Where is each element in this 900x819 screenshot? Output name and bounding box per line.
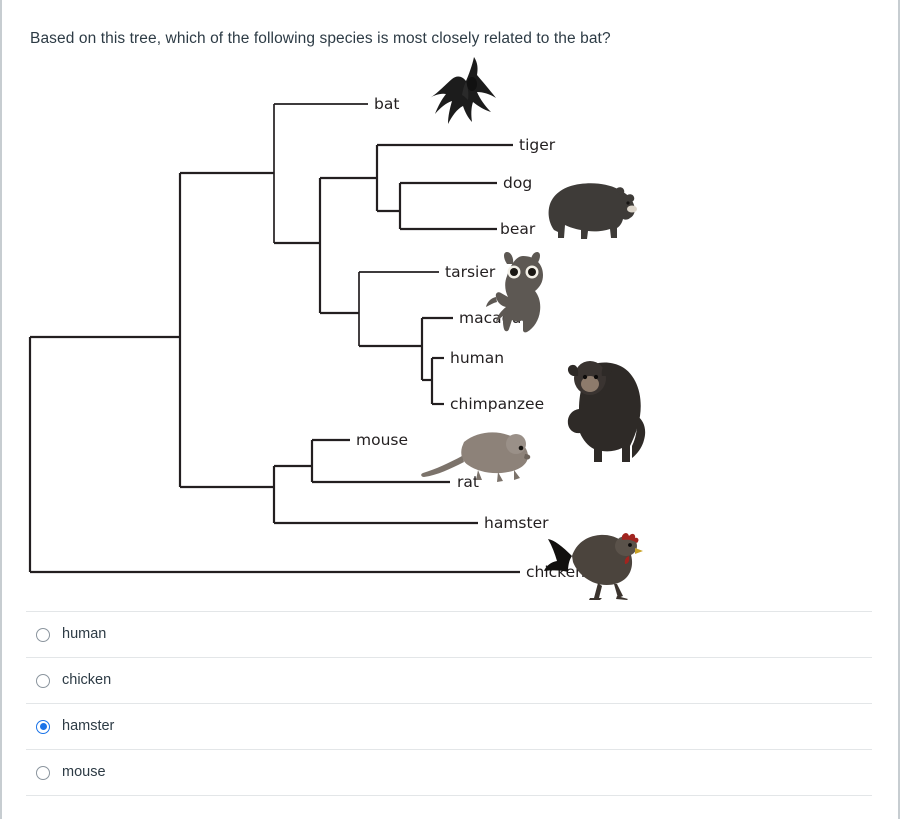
tree-leaf-bat: bat	[374, 97, 399, 113]
answer-label-mouse: mouse	[62, 765, 106, 780]
chicken-image	[542, 530, 650, 600]
tree-leaf-tiger: tiger	[519, 138, 555, 154]
question-page: Based on this tree, which of the followi…	[0, 0, 900, 819]
chimpanzee-image	[552, 354, 650, 472]
answer-label-human: human	[62, 627, 106, 642]
phylogenetic-tree-figure: bat tiger dog bear tarsier macaque human…	[16, 60, 676, 600]
radio-chicken[interactable]	[36, 674, 50, 688]
tree-leaf-dog: dog	[503, 176, 532, 192]
answer-label-hamster: hamster	[62, 719, 114, 734]
tarsier-image	[483, 250, 561, 338]
question-prompt: Based on this tree, which of the followi…	[30, 28, 870, 50]
answer-option-mouse[interactable]: mouse	[26, 749, 872, 796]
bear-image	[540, 168, 640, 248]
radio-human[interactable]	[36, 628, 50, 642]
tree-leaf-chimpanzee: chimpanzee	[450, 397, 544, 413]
answer-options-list: human chicken hamster mouse	[26, 611, 872, 796]
tree-leaf-hamster: hamster	[484, 516, 548, 532]
answer-label-chicken: chicken	[62, 673, 111, 688]
radio-mouse[interactable]	[36, 766, 50, 780]
tree-branches	[16, 60, 676, 600]
tree-leaf-bear: bear	[500, 222, 535, 238]
answer-option-chicken[interactable]: chicken	[26, 657, 872, 703]
radio-hamster[interactable]	[36, 720, 50, 734]
answer-option-human[interactable]: human	[26, 611, 872, 657]
answer-option-hamster[interactable]: hamster	[26, 703, 872, 749]
tree-leaf-mouse: mouse	[356, 433, 408, 449]
tree-leaf-human: human	[450, 351, 504, 367]
mouse-image	[416, 422, 534, 486]
bat-image	[412, 54, 504, 142]
